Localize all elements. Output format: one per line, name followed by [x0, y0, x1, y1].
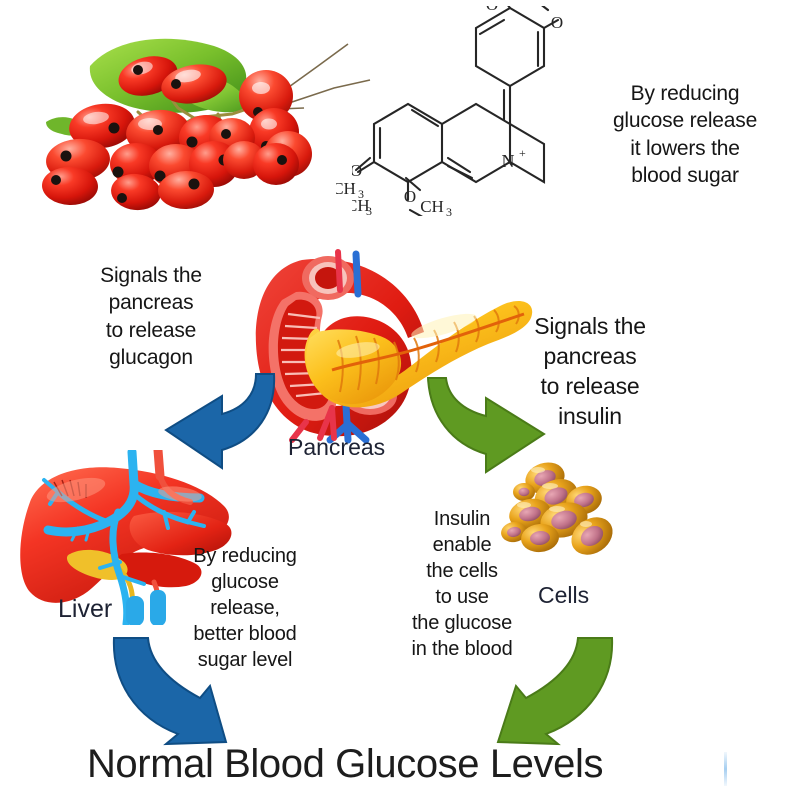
cells-label: Cells	[538, 582, 589, 609]
caption-glucagon-signal: Signals the pancreas to release glucagon	[56, 262, 246, 371]
caption-berberine-effect: By reducing glucose release it lowers th…	[572, 80, 798, 189]
liver-label: Liver	[58, 595, 112, 624]
blue-arrow-liver-to-title	[104, 632, 234, 750]
pancreas-label: Pancreas	[288, 434, 385, 461]
green-arrow-pancreas-to-cells	[422, 368, 554, 480]
berries-illustration	[18, 14, 374, 224]
methoxy-sub-lower-left: 3	[358, 187, 364, 201]
methoxy-sub-lower-right: 3	[446, 205, 452, 218]
methoxy-ch-lower-right: CH	[420, 197, 444, 216]
berries-svg	[18, 14, 374, 224]
methoxy-ch-lower-left: CH	[336, 179, 356, 198]
oxygen-label-1: O	[486, 6, 498, 14]
blue-arrow-pancreas-to-liver	[152, 368, 282, 480]
nitrogen-charge: +	[519, 146, 526, 160]
green-arrow-cells-to-title	[492, 632, 624, 750]
scan-artifact-line	[724, 752, 727, 786]
page-title: Normal Blood Glucose Levels	[0, 742, 690, 787]
oxygen-label-2: O	[551, 13, 563, 32]
diagram-canvas: O O O O N + CH 3 CH 3	[0, 0, 800, 800]
methoxy-label-overlay: CH 3 CH 3	[336, 132, 516, 218]
